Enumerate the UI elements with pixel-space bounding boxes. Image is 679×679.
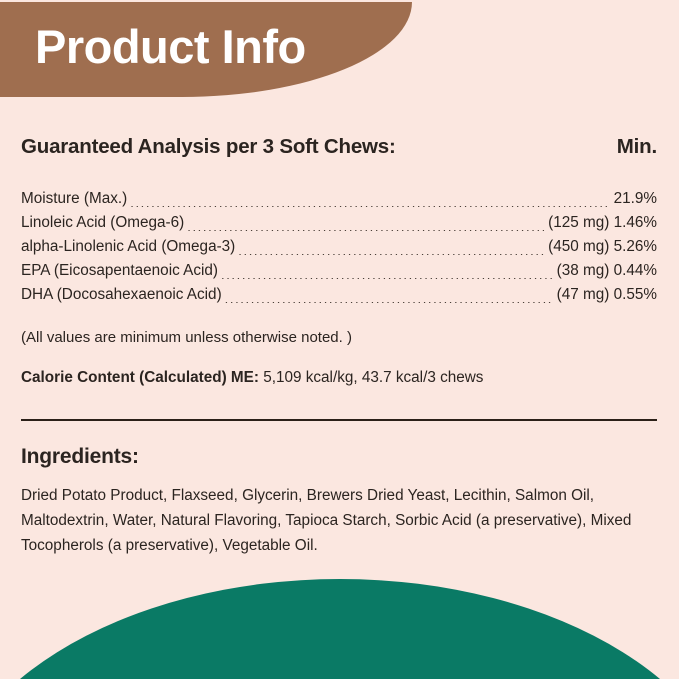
analysis-rows: Moisture (Max.) 21.9% Linoleic Acid (Ome… [21,187,657,307]
nutrient-value: 21.9% [610,187,657,211]
nutrient-name: Linoleic Acid (Omega-6) [21,211,187,235]
dot-leader [130,206,609,207]
dot-leader [238,254,544,255]
nutrient-name: alpha-Linolenic Acid (Omega-3) [21,235,238,259]
dot-leader [187,230,544,231]
ingredients-section: Ingredients: Dried Potato Product, Flaxs… [0,445,679,558]
nutrient-value: (47 mg) 0.55% [553,283,657,307]
nutrient-name: EPA (Eicosapentaenoic Acid) [21,259,221,283]
nutrient-name: DHA (Docosahexaenoic Acid) [21,283,225,307]
nutrient-value: (450 mg) 5.26% [544,235,657,259]
nutrient-name: Moisture (Max.) [21,187,130,211]
footer-arc [0,579,679,679]
label-content: Guaranteed Analysis per 3 Soft Chews: Mi… [0,97,679,558]
nutrient-value: (38 mg) 0.44% [553,259,657,283]
dot-leader [225,302,553,303]
ingredients-text: Dried Potato Product, Flaxseed, Glycerin… [21,483,646,558]
table-row: DHA (Docosahexaenoic Acid) (47 mg) 0.55% [21,283,657,307]
section-divider [21,419,657,421]
table-row: alpha-Linolenic Acid (Omega-3) (450 mg) … [21,235,657,259]
table-row: EPA (Eicosapentaenoic Acid) (38 mg) 0.44… [21,259,657,283]
nutrient-value: (125 mg) 1.46% [544,211,657,235]
calorie-content-value: 5,109 kcal/kg, 43.7 kcal/3 chews [259,369,483,386]
calorie-content-label: Calorie Content (Calculated) ME: [21,369,259,386]
analysis-heading: Guaranteed Analysis per 3 Soft Chews: [21,135,396,159]
dot-leader [221,278,553,279]
analysis-note: (All values are minimum unless otherwise… [21,327,657,349]
guaranteed-analysis-section: Guaranteed Analysis per 3 Soft Chews: Mi… [0,97,679,389]
table-row: Linoleic Acid (Omega-6) (125 mg) 1.46% [21,211,657,235]
header-banner: Product Info [0,2,412,97]
analysis-header-row: Guaranteed Analysis per 3 Soft Chews: Mi… [21,97,657,159]
calorie-content-line: Calorie Content (Calculated) ME: 5,109 k… [21,367,657,389]
table-row: Moisture (Max.) 21.9% [21,187,657,211]
page-title: Product Info [35,23,306,70]
analysis-column-header-min: Min. [617,135,657,159]
ingredients-title: Ingredients: [21,445,657,469]
product-info-label: Product Info Guaranteed Analysis per 3 S… [0,0,679,679]
